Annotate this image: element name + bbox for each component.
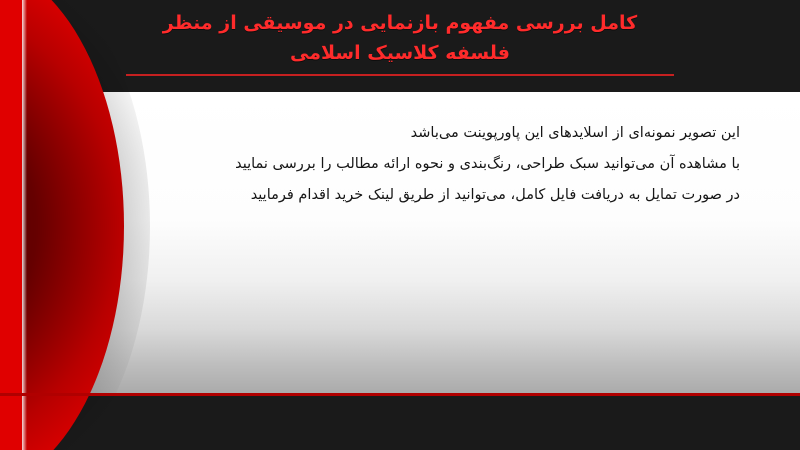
body-line-1: این تصویر نمونه‌ای از اسلایدهای این پاور…: [140, 118, 740, 149]
title-divider: [126, 74, 674, 76]
title-line-1: کامل بررسی مفهوم بازنمایی در موسیقی از م…: [0, 8, 800, 38]
slide-title: کامل بررسی مفهوم بازنمایی در موسیقی از م…: [0, 8, 800, 76]
body-line-3: در صورت تمایل به دریافت فایل کامل، می‌تو…: [140, 180, 740, 211]
slide-bottom-red-accent: [0, 393, 800, 396]
body-line-2: با مشاهده آن می‌توانید سبک طراحی، رنگ‌بن…: [140, 149, 740, 180]
presentation-slide: کامل بررسی مفهوم بازنمایی در موسیقی از م…: [0, 0, 800, 450]
slide-body: این تصویر نمونه‌ای از اسلایدهای این پاور…: [140, 118, 740, 211]
slide-bottom-black-band: [0, 396, 800, 450]
title-line-2: فلسفه کلاسیک اسلامی: [0, 38, 800, 68]
